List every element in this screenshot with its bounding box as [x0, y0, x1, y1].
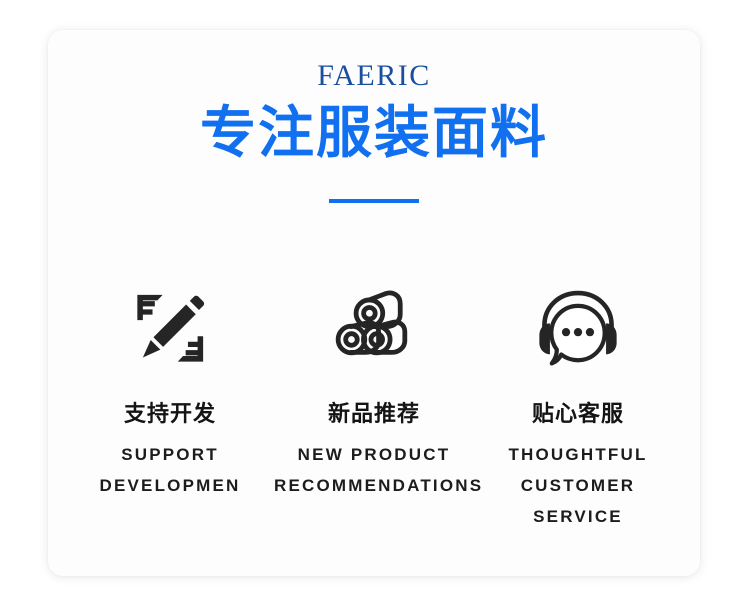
feature-title-en: NEW PRODUCT RECOMMENDATIONS — [274, 439, 474, 501]
feature-item-support-development: 支持开发 SUPPORT DEVELOPMEN — [70, 278, 270, 501]
pencil-ruler-icon — [120, 278, 220, 378]
promo-banner: FAERIC 专注服装面料 — [0, 0, 750, 615]
banner-header: FAERIC 专注服装面料 — [48, 58, 700, 195]
feature-title-en: THOUGHTFUL CUSTOMER SERVICE — [478, 439, 678, 532]
brand-name: FAERIC — [48, 58, 700, 94]
feature-title-en: SUPPORT DEVELOPMEN — [70, 439, 270, 501]
feature-list: 支持开发 SUPPORT DEVELOPMEN — [48, 278, 700, 532]
page-title: 专注服装面料 — [48, 100, 700, 166]
headset-chat-icon — [528, 278, 628, 378]
feature-title-cn: 新品推荐 — [328, 400, 420, 428]
banner-card: FAERIC 专注服装面料 — [48, 30, 700, 576]
feature-item-new-product: 新品推荐 NEW PRODUCT RECOMMENDATIONS — [274, 278, 474, 501]
feature-title-cn: 支持开发 — [124, 400, 216, 428]
feature-item-customer-service: 贴心客服 THOUGHTFUL CUSTOMER SERVICE — [478, 278, 678, 532]
accent-divider — [329, 199, 419, 203]
divider-container — [48, 190, 700, 195]
fabric-rolls-icon — [324, 278, 424, 378]
feature-title-cn: 贴心客服 — [532, 400, 624, 428]
